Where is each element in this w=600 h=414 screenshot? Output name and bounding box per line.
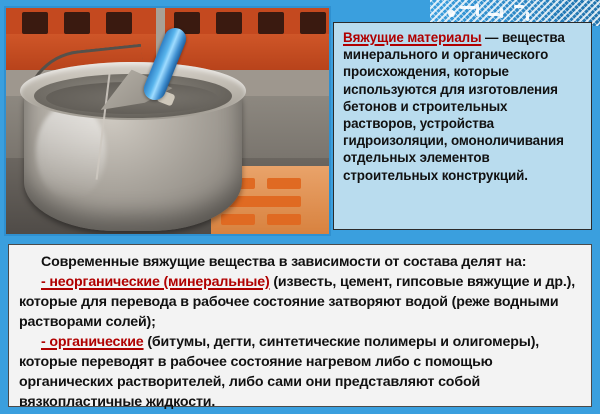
photo-binding-materials xyxy=(4,6,331,236)
definition-dash: — xyxy=(481,30,502,45)
classification-panel: Современные вяжущие вещества в зависимос… xyxy=(8,244,592,407)
classification-item-organic: - органические (битумы, дегти, синтетиче… xyxy=(19,332,581,412)
slide-root: Вяжущие материалы — вещества минеральног… xyxy=(0,0,600,414)
definition-term: Вяжущие материалы xyxy=(343,30,481,45)
item-term-organic: - органические xyxy=(41,334,144,350)
classification-intro: Современные вяжущие вещества в зависимос… xyxy=(19,252,581,272)
definition-body: вещества минерального и органического пр… xyxy=(343,30,565,183)
classification-item-inorganic: - неорганические (минеральные) (известь,… xyxy=(19,272,581,332)
item-term-inorganic: - неорганические (минеральные) xyxy=(41,274,270,290)
definition-panel: Вяжущие материалы — вещества минеральног… xyxy=(333,22,592,230)
definition-text: Вяжущие материалы — вещества минеральног… xyxy=(343,29,583,184)
